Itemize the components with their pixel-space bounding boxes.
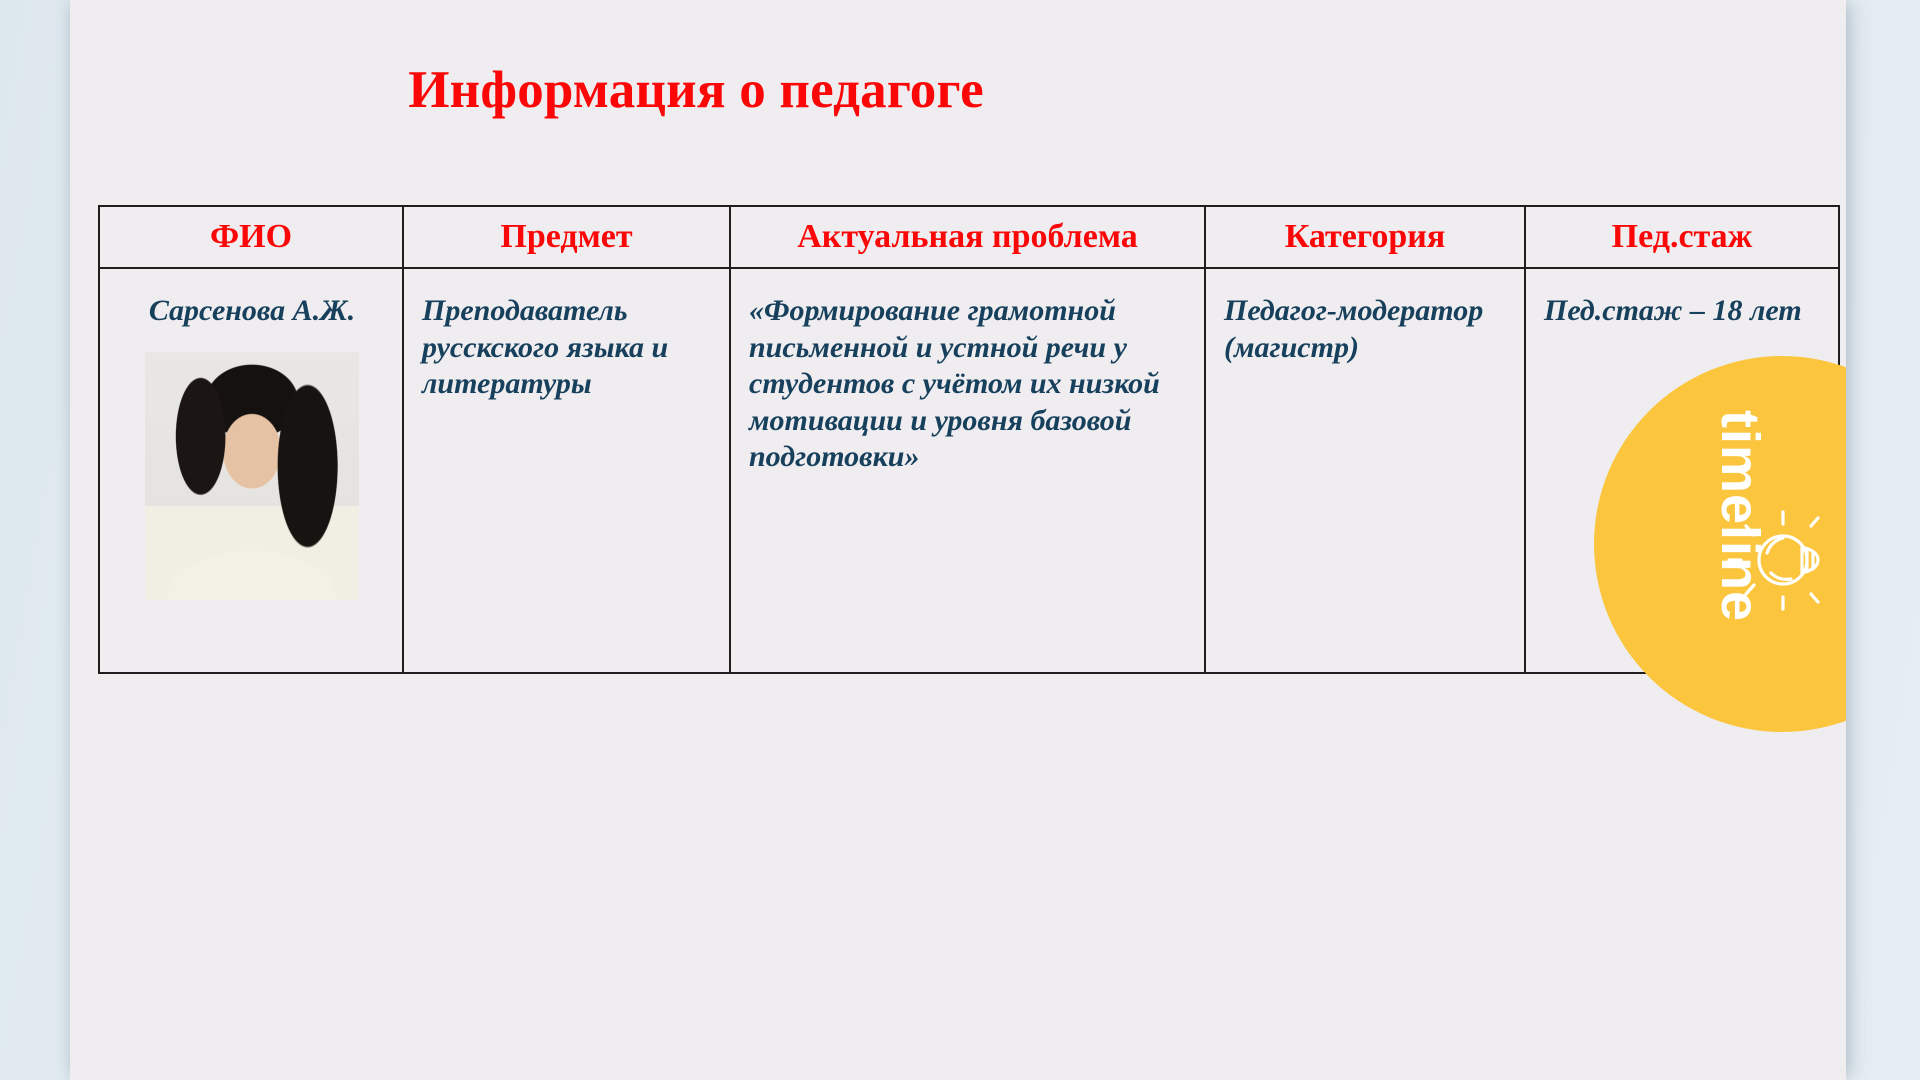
table-header-row: ФИО Предмет Актуальная проблема Категори… (99, 206, 1839, 268)
cell-fio: Сарсенова А.Ж. (99, 268, 403, 673)
teacher-name: Сарсенова А.Ж. (118, 293, 386, 330)
presentation-slide: Информация о педагоге timeline (70, 0, 1846, 1080)
column-header-experience: Пед.стаж (1525, 206, 1839, 268)
teacher-info-table: ФИО Предмет Актуальная проблема Категори… (98, 205, 1840, 674)
cell-problem: «Формирование грамотной письменной и уст… (730, 268, 1205, 673)
column-header-subject: Предмет (403, 206, 730, 268)
table-row: Сарсенова А.Ж. Преподаватель русскского … (99, 268, 1839, 673)
lightbulb-icon (1725, 505, 1840, 615)
column-header-fio: ФИО (99, 206, 403, 268)
cell-category: Педагог-модератор (магистр) (1205, 268, 1525, 673)
teacher-photo (145, 352, 359, 600)
cell-subject: Преподаватель русскского языка и литерат… (403, 268, 730, 673)
page-title: Информация о педагоге (70, 60, 1586, 120)
column-header-problem: Актуальная проблема (730, 206, 1205, 268)
column-header-category: Категория (1205, 206, 1525, 268)
